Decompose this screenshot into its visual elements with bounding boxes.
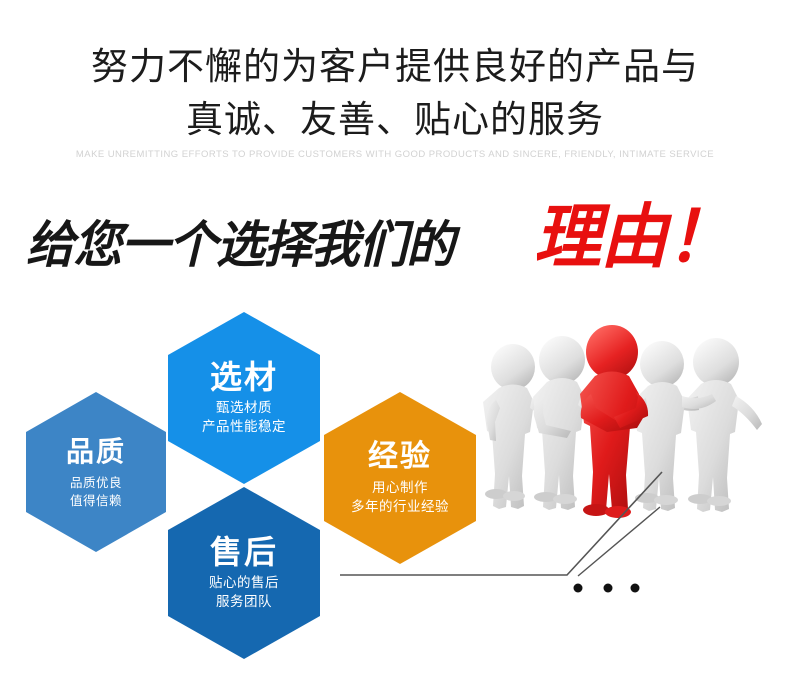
hexagon-aftersales-title: 售后 xyxy=(210,534,278,570)
team-figures-illustration xyxy=(466,320,776,535)
hexagon-material[interactable]: 选材 甄选材质 产品性能稳定 xyxy=(168,312,320,484)
main-slogan: 给您一个选择我们的 理由！ xyxy=(26,198,766,278)
hexagon-material-title: 选材 xyxy=(210,359,278,395)
slogan-red-text: 理由！ xyxy=(534,198,733,276)
deco-dot-3 xyxy=(631,584,640,593)
deco-dot-2 xyxy=(604,584,613,593)
figure-red-highlight xyxy=(580,325,648,518)
hexagon-experience[interactable]: 经验 用心制作 多年的行业经验 xyxy=(324,392,476,564)
hexagon-aftersales-subtitle-line-1: 贴心的售后 xyxy=(209,574,279,593)
deco-dot-1 xyxy=(574,584,583,593)
hexagon-material-subtitle-line-1: 甄选材质 xyxy=(216,399,272,418)
promo-banner-page: 努力不懈的为客户提供良好的产品与 真诚、友善、贴心的服务 MAKE UNREMI… xyxy=(0,0,790,695)
headline-chinese-line-1: 努力不懈的为客户提供良好的产品与 xyxy=(0,42,790,91)
hexagon-quality-subtitle-line-1: 品质优良 xyxy=(70,474,122,492)
hexagon-quality[interactable]: 品质 品质优良 值得信赖 xyxy=(26,392,166,552)
hexagon-experience-subtitle-line-1: 用心制作 xyxy=(372,479,428,498)
hexagon-aftersales-subtitle-line-2: 服务团队 xyxy=(216,593,272,612)
hexagon-experience-title: 经验 xyxy=(368,439,432,475)
hexagon-quality-subtitle-line-2: 值得信赖 xyxy=(70,492,122,510)
hexagon-quality-title: 品质 xyxy=(66,434,126,470)
hexagon-aftersales[interactable]: 售后 贴心的售后 服务团队 xyxy=(168,487,320,659)
headline-english-subtitle: MAKE UNREMITTING EFFORTS TO PROVIDE CUST… xyxy=(0,149,790,160)
hexagon-material-subtitle-line-2: 产品性能稳定 xyxy=(202,418,286,437)
slogan-black-text: 给您一个选择我们的 xyxy=(26,217,454,273)
headline-chinese-line-2: 真诚、友善、贴心的服务 xyxy=(0,95,790,144)
hexagon-experience-subtitle-line-2: 多年的行业经验 xyxy=(351,498,449,517)
